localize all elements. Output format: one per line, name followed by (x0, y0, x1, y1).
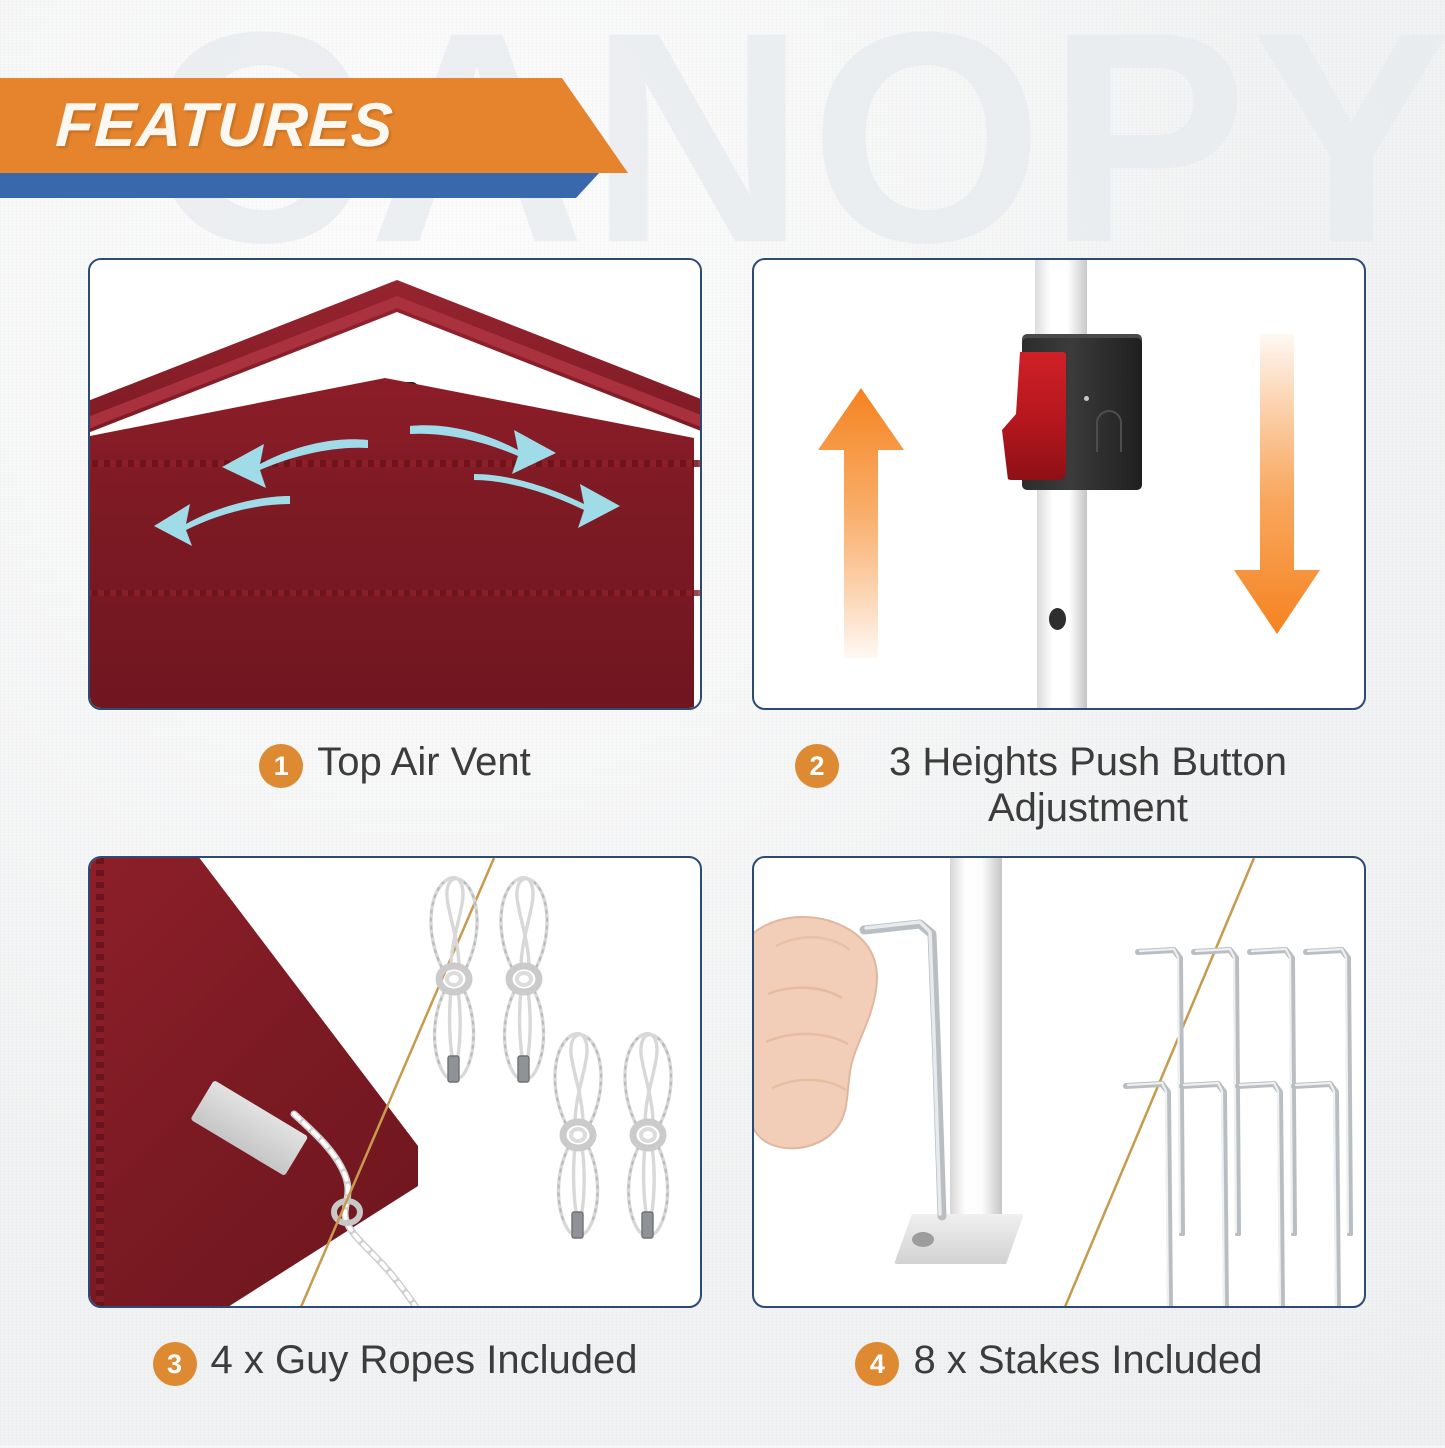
feature-caption-2: 2 3 Heights Push Button Adjustment (752, 740, 1366, 831)
feature-image-panel-3[interactable] (88, 856, 702, 1308)
guy-rope-bundle-1-icon (418, 870, 492, 1092)
guy-rope-bundle-3-icon (542, 1026, 616, 1248)
up-arrow-icon (816, 388, 906, 658)
feature-label-3: 4 x Guy Ropes Included (211, 1338, 638, 1384)
banner-orange-shape: FEATURES (0, 78, 628, 173)
feature-image-panel-2[interactable] (752, 258, 1366, 710)
attached-guy-rope-icon (290, 1108, 480, 1308)
airflow-arrow-right-upper-icon (408, 420, 558, 476)
feature-image-panel-4[interactable] (752, 856, 1366, 1308)
feature-caption-3: 3 4 x Guy Ropes Included (88, 1338, 702, 1386)
fabric-hem-stitch-icon (96, 858, 104, 1308)
feature-badge-1: 1 (259, 744, 303, 788)
feature-card-1: 1 Top Air Vent (88, 258, 702, 788)
stake-row2-4-icon (1290, 1080, 1350, 1308)
feature-badge-2: 2 (795, 744, 839, 788)
down-arrow-icon (1232, 334, 1322, 634)
guy-rope-bundle-4-icon (612, 1026, 686, 1248)
airflow-arrow-left-lower-icon (152, 492, 292, 548)
housing-pin-icon (1084, 396, 1089, 401)
feature-badge-3: 3 (153, 1342, 197, 1386)
features-grid: 1 Top Air Vent (88, 258, 1366, 1448)
stake-row2-3-icon (1234, 1080, 1294, 1308)
stake-row2-2-icon (1178, 1080, 1238, 1308)
canopy-vent-illustration (90, 260, 700, 708)
feature-label-4: 8 x Stakes Included (913, 1338, 1262, 1384)
canopy-stitch-seam-lower-icon (88, 590, 702, 596)
feature-badge-4: 4 (855, 1342, 899, 1386)
leg-height-hole-icon (1049, 608, 1066, 630)
banner-underline (0, 172, 600, 198)
feature-label-2: 3 Heights Push Button Adjustment (853, 740, 1323, 831)
feature-label-1: Top Air Vent (317, 740, 530, 786)
held-stake-icon (858, 916, 978, 1236)
feature-caption-4: 4 8 x Stakes Included (752, 1338, 1366, 1386)
feature-card-4: 4 8 x Stakes Included (752, 856, 1366, 1386)
feature-card-3: 3 4 x Guy Ropes Included (88, 856, 702, 1386)
feature-caption-1: 1 Top Air Vent (88, 740, 702, 788)
leg-pole-lower-icon (1037, 460, 1087, 710)
airflow-arrow-right-lower-icon (472, 472, 622, 530)
feature-image-panel-1[interactable] (88, 258, 702, 710)
housing-slot-icon (1096, 410, 1122, 452)
canopy-stitch-seam-icon (88, 460, 702, 467)
stake-row2-1-icon (1122, 1080, 1182, 1308)
red-push-button-icon[interactable] (1002, 352, 1066, 480)
airflow-arrow-left-upper-icon (220, 434, 370, 490)
feature-card-2: 2 3 Heights Push Button Adjustment (752, 258, 1366, 831)
page-title: FEATURES (54, 90, 395, 161)
